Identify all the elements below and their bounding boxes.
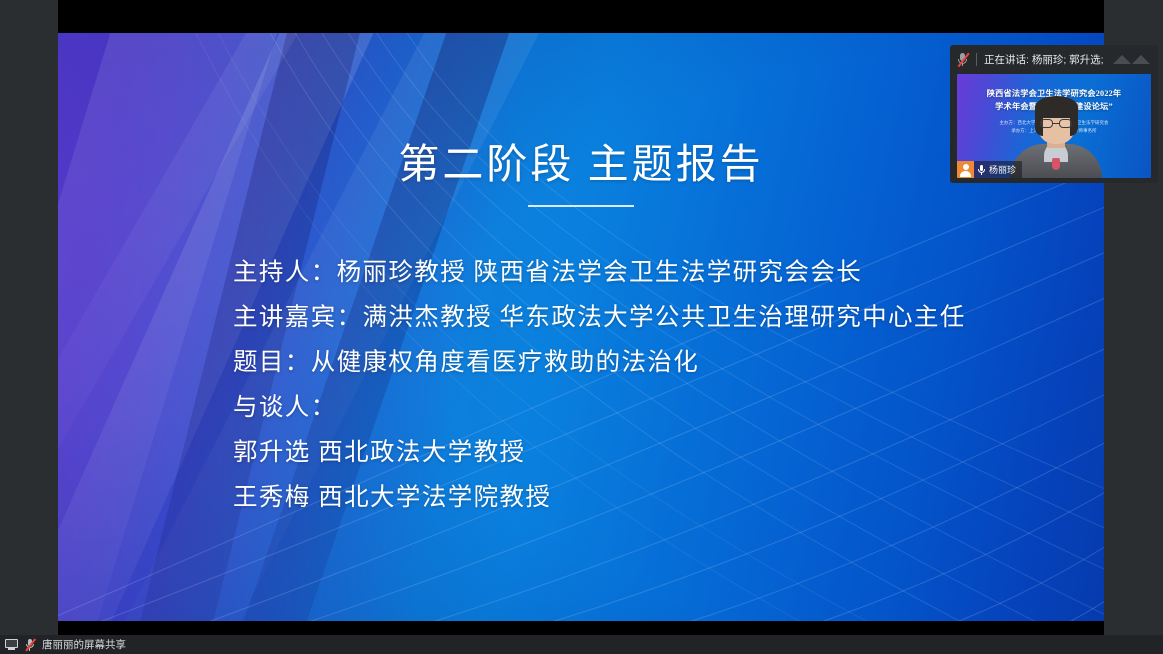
slide-body-line-discussant-2: 王秀梅 西北大学法学院教授 (233, 475, 1044, 520)
microphone-muted-icon (956, 52, 969, 67)
screen-share-icon (5, 639, 18, 650)
slide-body: 主持人：杨丽珍教授 陕西省法学会卫生法学研究会会长 主讲嘉宾：满洪杰教授 华东政… (233, 250, 1044, 520)
microphone-muted-icon (24, 638, 36, 652)
screen-share-label: 唐丽丽的屏幕共享 (42, 637, 126, 652)
active-speaker-bar: 正在讲话: 杨丽珍; 郭升选; (950, 45, 1158, 73)
slide-body-line-discussants-label: 与谈人： (233, 385, 1044, 430)
title-divider-rule (528, 205, 634, 207)
participant-name: 杨丽珍 (989, 163, 1016, 176)
slide-body-line-host: 主持人：杨丽珍教授 陕西省法学会卫生法学研究会会长 (233, 250, 1044, 295)
participant-person (1010, 104, 1102, 178)
shared-slide: 第二阶段 主题报告 主持人：杨丽珍教授 陕西省法学会卫生法学研究会会长 主讲嘉宾… (58, 33, 1104, 621)
participant-video-tile[interactable]: 陕西省法学会卫生法学研究会2022年 学术年会暨“卫生法治建设论坛” 主办方：西… (957, 74, 1151, 178)
slide-title: 第二阶段 主题报告 (58, 130, 1104, 190)
participant-video-panel[interactable]: 正在讲话: 杨丽珍; 郭升选; 陕西省法学会卫生法学研究会2022年 学术年会暨… (950, 45, 1158, 183)
person-avatar-icon (957, 161, 974, 178)
slide-body-line-speaker: 主讲嘉宾：满洪杰教授 华东政法大学公共卫生治理研究中心主任 (233, 295, 1044, 340)
participant-name-badge: 杨丽珍 (957, 161, 1022, 178)
microphone-icon (977, 164, 986, 176)
divider (976, 53, 977, 66)
slide-body-line-discussant-1: 郭升选 西北政法大学教授 (233, 430, 1044, 475)
active-speaker-label: 正在讲话: 杨丽珍; 郭升选; (984, 52, 1104, 67)
zoom-meeting-window: 第二阶段 主题报告 主持人：杨丽珍教授 陕西省法学会卫生法学研究会会长 主讲嘉宾… (0, 0, 1163, 654)
slide-body-line-topic: 题目：从健康权角度看医疗救助的法治化 (233, 340, 1044, 385)
double-chevron-up-icon[interactable] (1113, 55, 1152, 64)
screen-share-status-bar: 唐丽丽的屏幕共享 (0, 635, 1163, 654)
